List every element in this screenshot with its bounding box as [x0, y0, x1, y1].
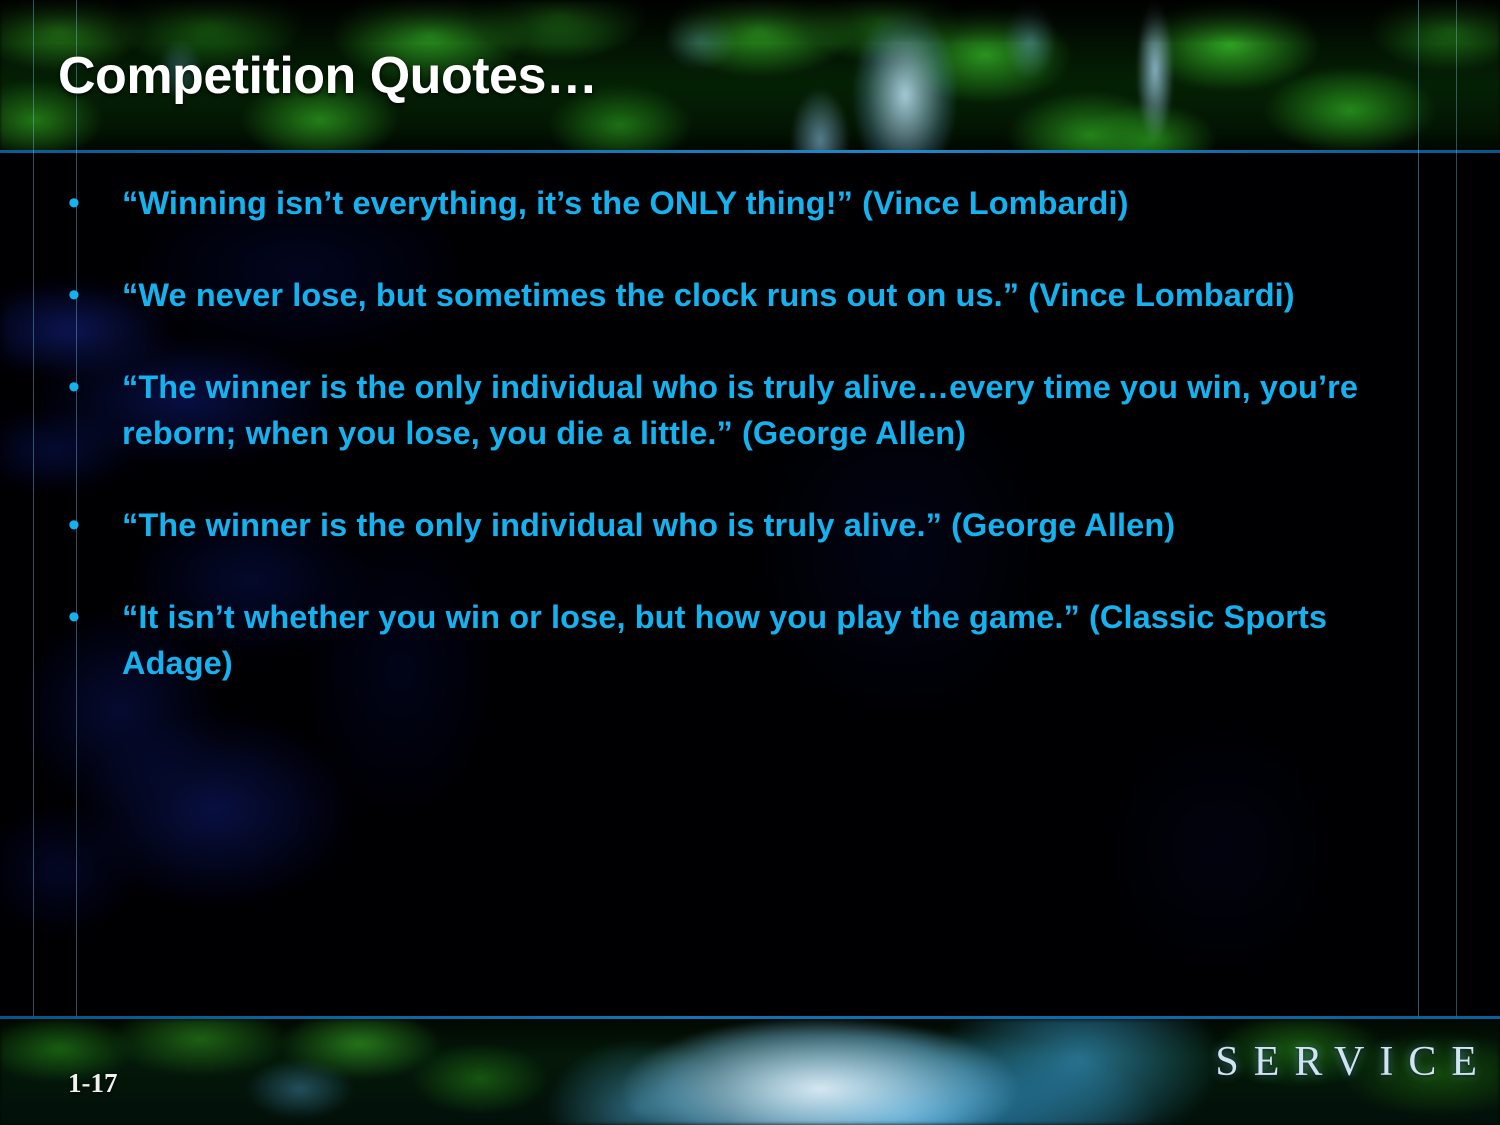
bullet-point-icon: • [62, 364, 122, 410]
list-item: • “The winner is the only individual who… [62, 502, 1432, 548]
bullet-point-icon: • [62, 502, 122, 548]
bullet-text: “The winner is the only individual who i… [122, 364, 1432, 456]
decorative-vertical-rule-left-outer [33, 0, 34, 1125]
bullet-text: “It isn’t whether you win or lose, but h… [122, 594, 1432, 686]
bullet-text: “We never lose, but sometimes the clock … [122, 272, 1432, 318]
header-divider-line [0, 150, 1500, 153]
bullet-text: “Winning isn’t everything, it’s the ONLY… [122, 180, 1432, 226]
list-item: • “The winner is the only individual who… [62, 364, 1432, 456]
brand-wordmark: SERVICE [1215, 1038, 1492, 1086]
bullet-point-icon: • [62, 272, 122, 318]
bullet-text: “The winner is the only individual who i… [122, 502, 1432, 548]
presentation-slide: Competition Quotes… • “Winning isn’t eve… [0, 0, 1500, 1125]
bullet-list: • “Winning isn’t everything, it’s the ON… [62, 180, 1432, 732]
list-item: • “Winning isn’t everything, it’s the ON… [62, 180, 1432, 226]
bullet-point-icon: • [62, 180, 122, 226]
banner-top-shade [0, 0, 1500, 42]
slide-title: Competition Quotes… [58, 46, 597, 106]
list-item: • “We never lose, but sometimes the cloc… [62, 272, 1432, 318]
slide-number: 1-17 [68, 1068, 118, 1099]
bullet-point-icon: • [62, 594, 122, 640]
decorative-vertical-rule-right-outer [1456, 0, 1457, 1125]
list-item: • “It isn’t whether you win or lose, but… [62, 594, 1432, 686]
